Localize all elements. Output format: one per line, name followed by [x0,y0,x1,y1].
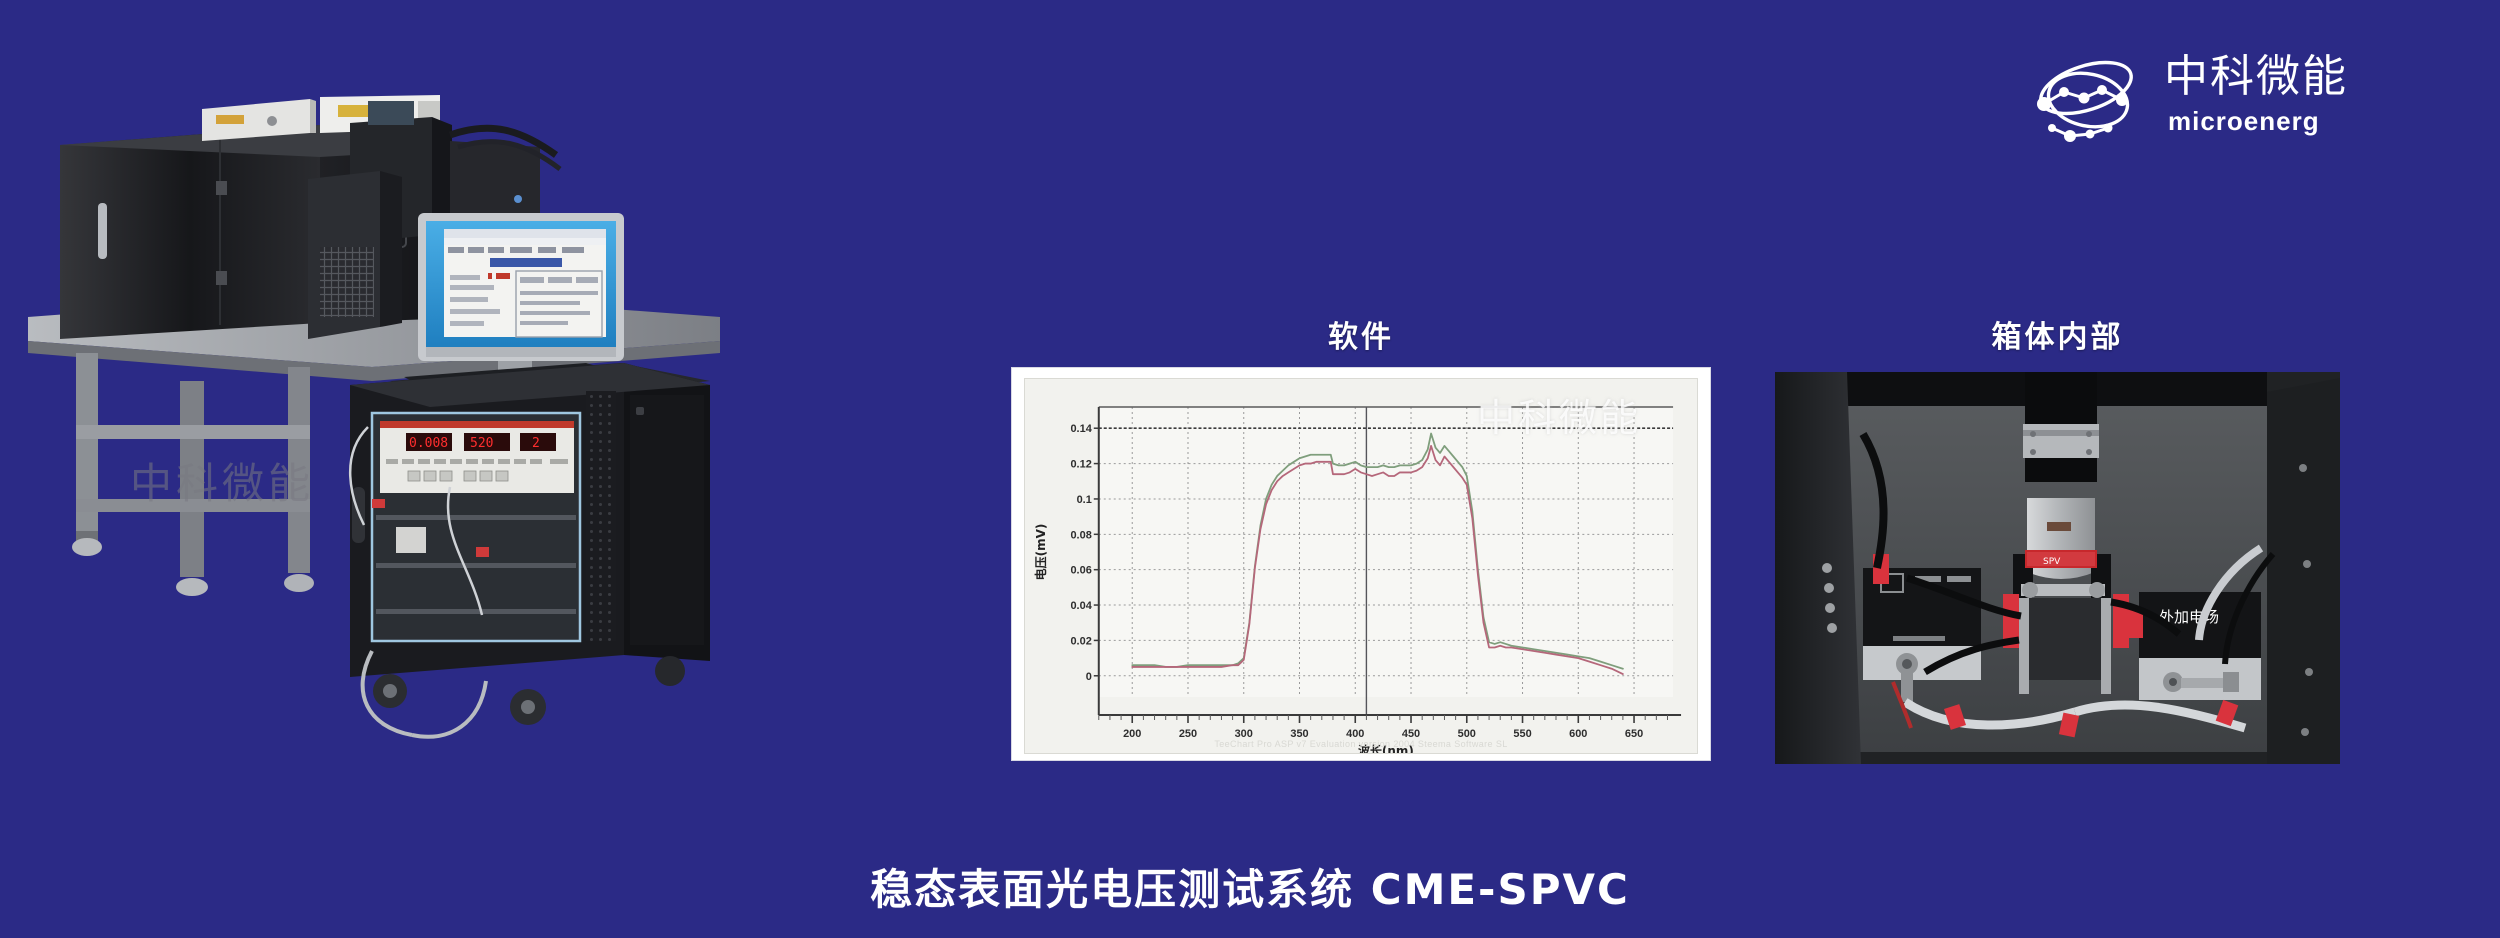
svg-text:0.008: 0.008 [409,436,448,451]
cabinet-interior-photo: SPV 外加电场 [1775,372,2340,764]
svg-text:SPV: SPV [2043,557,2061,567]
chart-gridlines [1099,407,1673,697]
svg-text:2: 2 [532,436,540,451]
section-caption-cabinet: 箱体内部 [1775,312,2340,356]
svg-text:0.02: 0.02 [1070,635,1091,647]
svg-text:0.1: 0.1 [1077,494,1092,506]
main-equipment-photo: 0.008 520 2 [20,95,950,815]
svg-text:电压(mV): 电压(mV) [1033,524,1048,581]
svg-text:500: 500 [1458,728,1476,740]
svg-text:300: 300 [1235,728,1253,740]
svg-text:0.06: 0.06 [1070,565,1091,577]
brand-name-cn: 中科微能 [2164,54,2348,100]
svg-text:550: 550 [1513,728,1531,740]
orbit-network-logo-icon [2030,42,2142,150]
svg-text:520: 520 [470,436,493,451]
svg-text:450: 450 [1402,728,1420,740]
brand-text: 中科微能 microenerg [2164,54,2348,137]
spv-spectrum-chart: 00.020.040.060.080.10.120.14200250300350… [1024,378,1698,754]
svg-text:400: 400 [1346,728,1364,740]
svg-text:0.04: 0.04 [1070,600,1092,612]
product-title: 稳态表面光电压测试系统 CME-SPVC [0,856,2500,917]
svg-text:波长(nm): 波长(nm) [1358,743,1414,753]
svg-text:600: 600 [1569,728,1587,740]
software-screenshot-panel: 00.020.040.060.080.10.120.14200250300350… [1012,368,1710,760]
svg-text:350: 350 [1290,728,1308,740]
svg-text:0.12: 0.12 [1070,459,1091,471]
svg-text:0.08: 0.08 [1070,529,1091,541]
svg-text:650: 650 [1625,728,1643,740]
brand-name-en: microenerg [2168,106,2320,137]
svg-text:250: 250 [1179,728,1197,740]
svg-text:0.14: 0.14 [1070,423,1092,435]
svg-text:0: 0 [1086,671,1092,683]
brand-logo: 中科微能 microenerg [2030,38,2450,153]
section-caption-software: 软件 [1012,312,1710,356]
svg-text:200: 200 [1123,728,1141,740]
